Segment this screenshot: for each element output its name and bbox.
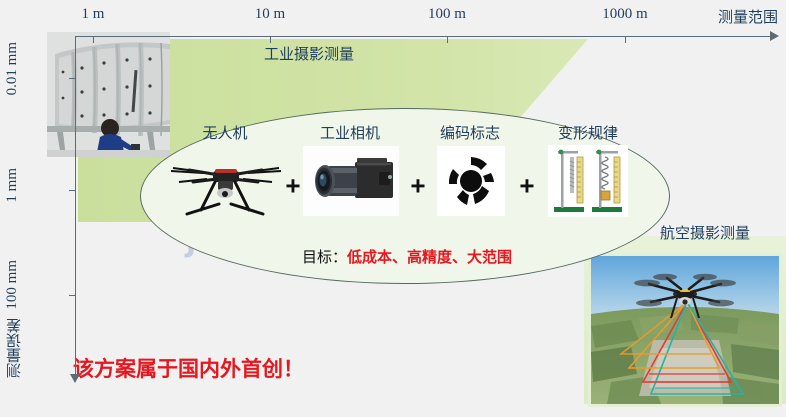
- x-tick-label-1000m: 1000 m: [602, 6, 647, 23]
- aerial-region-caption: 航空摄影测量: [660, 222, 750, 243]
- y-tick-label-1mm: 1 mm: [4, 168, 21, 203]
- x-tick-10m: [270, 36, 271, 43]
- y-axis-line: [75, 36, 76, 381]
- industrial-region-caption: 工业摄影测量: [264, 43, 354, 64]
- component-label-drone: 无人机: [202, 122, 247, 143]
- goal-line: 目标：低成本、高精度、大范围: [302, 246, 512, 267]
- x-tick-label-100m: 100 m: [428, 6, 466, 23]
- figure-canvas: JIAYING TECHNOLOGY 无人机 工业相机 编码标志 变形规律: [0, 0, 786, 417]
- y-tick-label-001mm: 0.01 mm: [4, 42, 21, 95]
- x-tick-100m: [447, 36, 448, 43]
- plus-sign-3: +: [519, 171, 534, 202]
- coded-target-icon: [437, 146, 505, 216]
- goal-value: 低成本、高精度、大范围: [347, 249, 512, 266]
- x-tick-1m: [93, 36, 94, 43]
- y-axis-title: 测量误差: [4, 318, 25, 378]
- x-tick-label-10m: 10 m: [255, 6, 285, 23]
- aerial-photogrammetry-photo: [588, 253, 782, 407]
- x-tick-1000m: [625, 36, 626, 43]
- plus-sign-2: +: [410, 171, 425, 202]
- x-axis-line: [75, 36, 775, 37]
- x-axis-arrow: [770, 31, 779, 41]
- x-tick-label-1m: 1 m: [82, 6, 105, 23]
- y-tick-001mm: [69, 78, 76, 79]
- y-axis-arrow: [70, 374, 80, 383]
- y-tick-100mm: [69, 295, 76, 296]
- x-axis-title: 测量范围: [718, 6, 778, 27]
- innovation-claim: 该方案属于国内外首创！: [73, 353, 304, 383]
- component-label-coded-target: 编码标志: [440, 122, 500, 143]
- goal-prefix: 目标：: [302, 249, 347, 266]
- industrial-photogrammetry-photo: [47, 32, 170, 157]
- industrial-camera-icon: [303, 146, 399, 216]
- component-label-deformation-law: 变形规律: [558, 122, 618, 143]
- y-tick-label-100mm: 100 mm: [4, 260, 21, 310]
- deformation-law-icon: [548, 145, 628, 217]
- y-tick-1mm: [69, 190, 76, 191]
- plus-sign-1: +: [285, 171, 300, 202]
- component-label-industrial-camera: 工业相机: [320, 122, 380, 143]
- drone-icon: [163, 148, 288, 220]
